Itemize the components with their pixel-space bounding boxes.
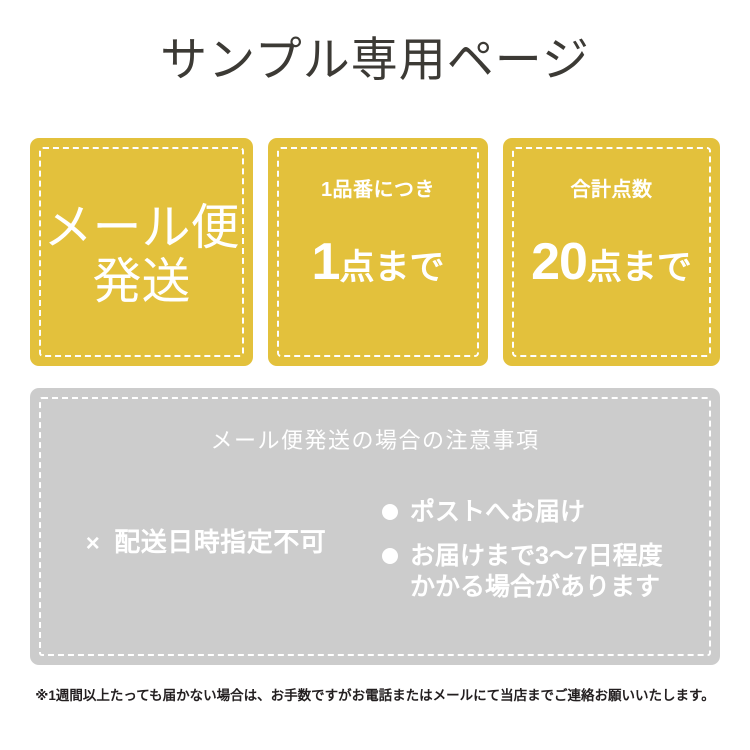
notice-bullet-1-text: ポストへお届け [410,497,585,528]
card-per-item-limit-unit: 点まで [339,242,444,294]
card-per-item-limit-number: 1 [312,236,340,288]
sample-page-banner: サンプル専用ページ メール便 発送 1品番につき 1 点まで 合計点数 20 [0,0,750,750]
notice-bullet-1-line1: ポストへお届け [410,497,585,528]
feature-card-group: メール便 発送 1品番につき 1 点まで 合計点数 20 点まで [30,138,720,366]
footer-note: ※1週間以上たっても届かない場合は、お手数ですがお電話またはメールにて当店までご… [0,686,750,706]
notice-bullet-list: ポストへお届け お届けまで3〜7日程度 かかる場合があります [382,493,720,603]
page-title: サンプル専用ページ [0,28,750,92]
card-shipping-method-text: メール便 発送 [43,201,239,309]
notice-body: ×配送日時指定不可 ポストへお届け お届けまで3〜7日程度 かかる場合があります [30,493,720,643]
card-total-limit-unit: 点まで [587,242,692,294]
card-per-item-limit: 1品番につき 1 点まで [268,138,488,366]
card-per-item-limit-value: 1 点まで [312,236,445,294]
notice-bullet-2-line1: お届けまで3〜7日程度 [410,541,663,572]
notice-restriction: ×配送日時指定不可 [30,493,382,560]
notice-bullet-2-text: お届けまで3〜7日程度 かかる場合があります [410,541,663,603]
card-total-limit: 合計点数 20 点まで [503,138,720,366]
notice-heading: メール便発送の場合の注意事項 [30,426,720,456]
card-total-limit-caption: 合計点数 [571,178,653,202]
bullet-dot-icon [382,504,398,520]
card-per-item-limit-caption: 1品番につき [321,178,435,202]
card-shipping-method: メール便 発送 [30,138,253,366]
notice-panel: メール便発送の場合の注意事項 ×配送日時指定不可 ポストへお届け お届けまで3〜… [30,388,720,665]
list-item: お届けまで3〜7日程度 かかる場合があります [382,541,720,603]
cross-icon: × [86,528,101,560]
notice-bullet-2-line2: かかる場合があります [410,572,663,603]
card-shipping-method-line1: メール便 [43,201,239,255]
card-total-limit-value: 20 点まで [531,236,692,294]
card-shipping-method-line2: 発送 [43,255,239,309]
list-item: ポストへお届け [382,497,720,528]
notice-restriction-label: 配送日時指定不可 [114,527,326,557]
card-total-limit-number: 20 [531,236,587,288]
bullet-dot-icon [382,548,398,564]
